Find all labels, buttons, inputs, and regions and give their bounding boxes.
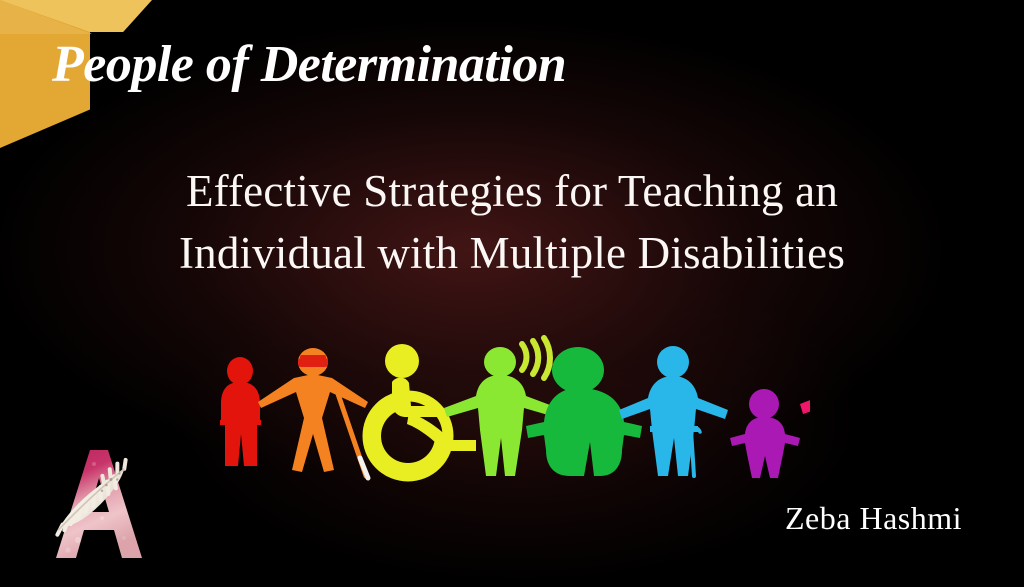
figure-cyan-person-with-crutch [619, 346, 728, 476]
slide-canvas: People of Determination Effective Strate… [0, 0, 1024, 587]
logo [38, 442, 160, 570]
figure-lightgreen-person-with-hearing-waves [444, 338, 558, 476]
logo-letter-a-icon [38, 442, 160, 570]
slide-subtitle: Effective Strategies for Teaching an Ind… [0, 160, 1024, 284]
people-illustration [210, 326, 810, 486]
paper-figures-svg [210, 326, 810, 486]
hearing-waves-icon [522, 338, 550, 378]
subtitle-line-2: Individual with Multiple Disabilities [0, 222, 1024, 284]
subtitle-line-1: Effective Strategies for Teaching an [0, 160, 1024, 222]
sunglasses-icon [298, 355, 328, 367]
figure-purple-child [730, 389, 800, 478]
figure-red-standing-person [220, 357, 261, 466]
author-name: Zeba Hashmi [785, 500, 962, 537]
figure-pink-person [800, 337, 810, 478]
page-title: People of Determination [52, 38, 566, 93]
figure-orange-person-with-cane [258, 348, 368, 478]
